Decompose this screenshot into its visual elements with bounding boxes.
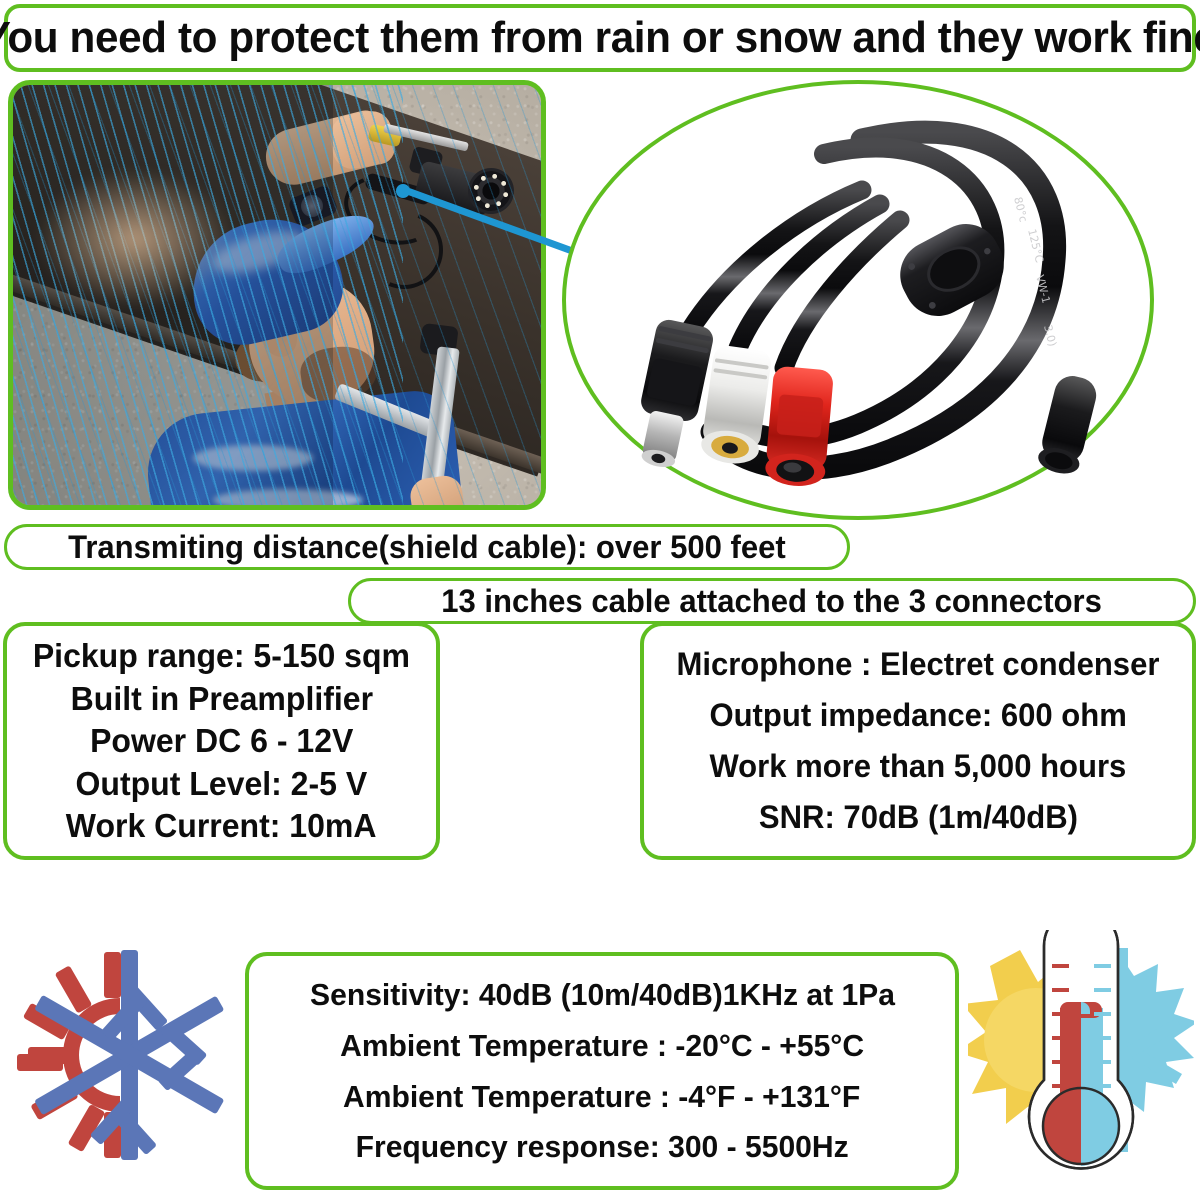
installation-photo-panel xyxy=(8,80,546,510)
infographic-stage: You need to protect them from rain or sn… xyxy=(0,0,1200,1200)
header-banner: You need to protect them from rain or sn… xyxy=(4,4,1196,72)
spec-line: Sensitivity: 40dB (10m/40dB)1KHz at 1Pa xyxy=(310,979,895,1011)
spec-line: Built in Preamplifier xyxy=(70,682,372,716)
spec-line: Output Level: 2-5 V xyxy=(76,767,368,801)
thermometer-shape xyxy=(1029,930,1133,1169)
installation-photo xyxy=(13,85,541,505)
spec-line: Pickup range: 5-150 sqm xyxy=(33,639,410,673)
transmit-distance-text: Transmiting distance(shield cable): over… xyxy=(68,531,786,563)
svg-text:80°c: 80°c xyxy=(1011,196,1030,224)
cable-length-callout: 13 inches cable attached to the 3 connec… xyxy=(348,578,1196,624)
spec-box-left: Pickup range: 5-150 sqm Built in Preampl… xyxy=(3,622,440,860)
spec-line: Work Current: 10mA xyxy=(66,809,377,843)
spec-line: Output impedance: 600 ohm xyxy=(709,699,1126,732)
header-headline: You need to protect them from rain or sn… xyxy=(0,16,1200,60)
spec-line: Work more than 5,000 hours xyxy=(710,750,1127,783)
spec-box-bottom: Sensitivity: 40dB (10m/40dB)1KHz at 1Pa … xyxy=(245,952,959,1190)
spec-line: SNR: 70dB (1m/40dB) xyxy=(758,801,1077,834)
thermometer-sun-snowflake-icon xyxy=(968,930,1194,1176)
spec-line: Frequency response: 300 - 5500Hz xyxy=(355,1131,848,1163)
cable-length-text: 13 inches cable attached to the 3 connec… xyxy=(442,585,1103,617)
spec-box-right: Microphone : Electret condenser Output i… xyxy=(640,622,1196,860)
spec-line: Ambient Temperature : -20°C - +55°C xyxy=(340,1030,864,1062)
spec-line: Ambient Temperature : -4°F - +131°F xyxy=(343,1081,860,1113)
cable-product-panel: 80°c 125°C VW-1 3.0) K1 xyxy=(562,80,1154,520)
transmit-distance-callout: Transmiting distance(shield cable): over… xyxy=(4,524,850,570)
sun-snowflake-icon xyxy=(8,944,236,1166)
spec-line: Power DC 6 - 12V xyxy=(90,724,353,758)
cable-assembly-illustration: 80°c 125°C VW-1 3.0) K1 xyxy=(562,80,1154,520)
svg-text:3.0): 3.0) xyxy=(1041,324,1059,348)
spec-line: Microphone : Electret condenser xyxy=(677,648,1160,681)
